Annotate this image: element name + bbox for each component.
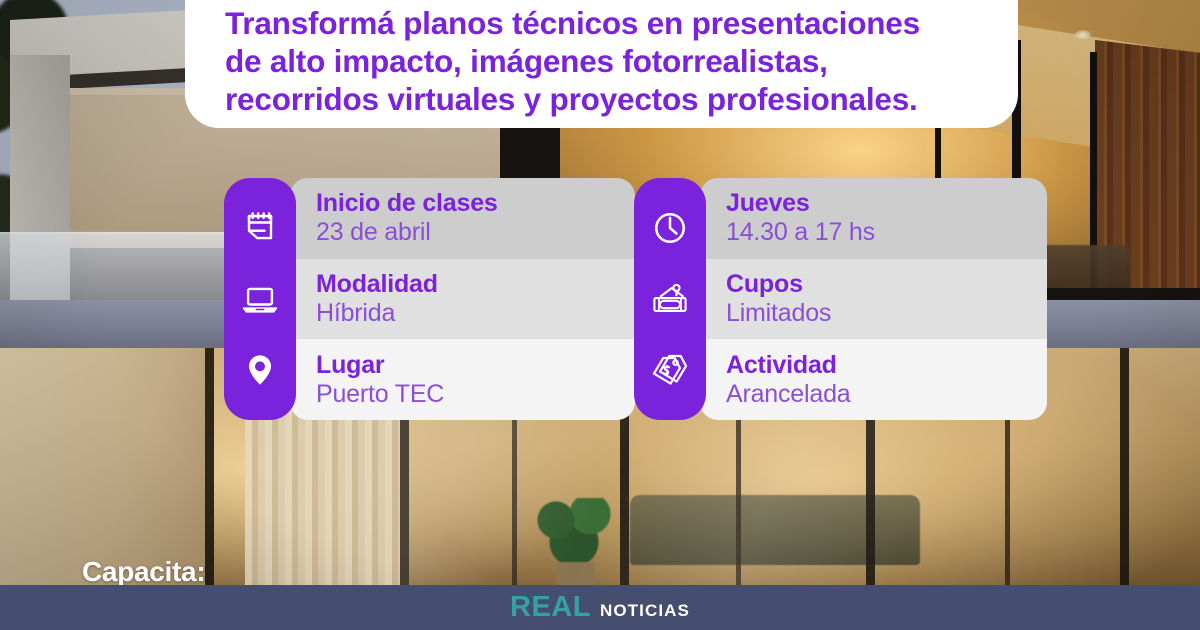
info-row-value: Arancelada [726, 379, 1047, 409]
info-row-label: Cupos [726, 270, 1047, 298]
info-row-value: 23 de abril [316, 217, 635, 247]
info-row-label: Actividad [726, 351, 1047, 379]
info-row-label: Lugar [316, 351, 635, 379]
real-noticias-logo: REAL NOTICIAS [510, 591, 690, 624]
info-row-value: 14.30 a 17 hs [726, 217, 1047, 247]
headline-line-3: recorridos virtuales y proyectos profesi… [225, 80, 984, 118]
info-row: Actividad Arancelada [700, 339, 1047, 420]
info-row: Cupos Limitados [700, 259, 1047, 340]
icon-rail-right [634, 178, 706, 420]
headline-panel: Transformá planos técnicos en presentaci… [185, 0, 1018, 128]
ground-floor-left-wall [0, 348, 205, 588]
info-row: Inicio de clases 23 de abril [290, 178, 635, 259]
icon-rail-left [224, 178, 296, 420]
footer-bar: REAL NOTICIAS [0, 585, 1200, 630]
calendar-icon [238, 206, 282, 250]
window-mullion [1120, 348, 1129, 588]
info-row-label: Inicio de clases [316, 189, 635, 217]
price-tag-icon [648, 348, 692, 392]
tickets-icon [648, 277, 692, 321]
info-row-label: Jueves [726, 189, 1047, 217]
headline-line-2: de alto impacto, imágenes fotorrealistas… [225, 42, 984, 80]
headline-line-1: Transformá planos técnicos en presentaci… [225, 4, 984, 42]
info-row-value: Puerto TEC [316, 379, 635, 409]
interior-sofa [630, 495, 920, 565]
logo-primary-text: REAL [510, 591, 591, 624]
location-pin-icon [238, 348, 282, 392]
info-rows-right: Jueves 14.30 a 17 hs Cupos Limitados Act… [700, 178, 1047, 420]
info-row: Modalidad Híbrida [290, 259, 635, 340]
info-row-label: Modalidad [316, 270, 635, 298]
info-row-value: Híbrida [316, 298, 635, 328]
clock-icon [648, 206, 692, 250]
laptop-icon [238, 277, 282, 321]
info-rows-left: Inicio de clases 23 de abril Modalidad H… [290, 178, 635, 420]
window-mullion [205, 348, 214, 588]
info-row: Jueves 14.30 a 17 hs [700, 178, 1047, 259]
info-row: Lugar Puerto TEC [290, 339, 635, 420]
downlight-icon [1075, 30, 1091, 39]
info-card-group-right: Jueves 14.30 a 17 hs Cupos Limitados Act… [634, 178, 1053, 420]
capacita-label: Capacita: [82, 556, 205, 588]
logo-secondary-text: NOTICIAS [600, 601, 690, 621]
info-card-group-left: Inicio de clases 23 de abril Modalidad H… [224, 178, 641, 420]
info-row-value: Limitados [726, 298, 1047, 328]
